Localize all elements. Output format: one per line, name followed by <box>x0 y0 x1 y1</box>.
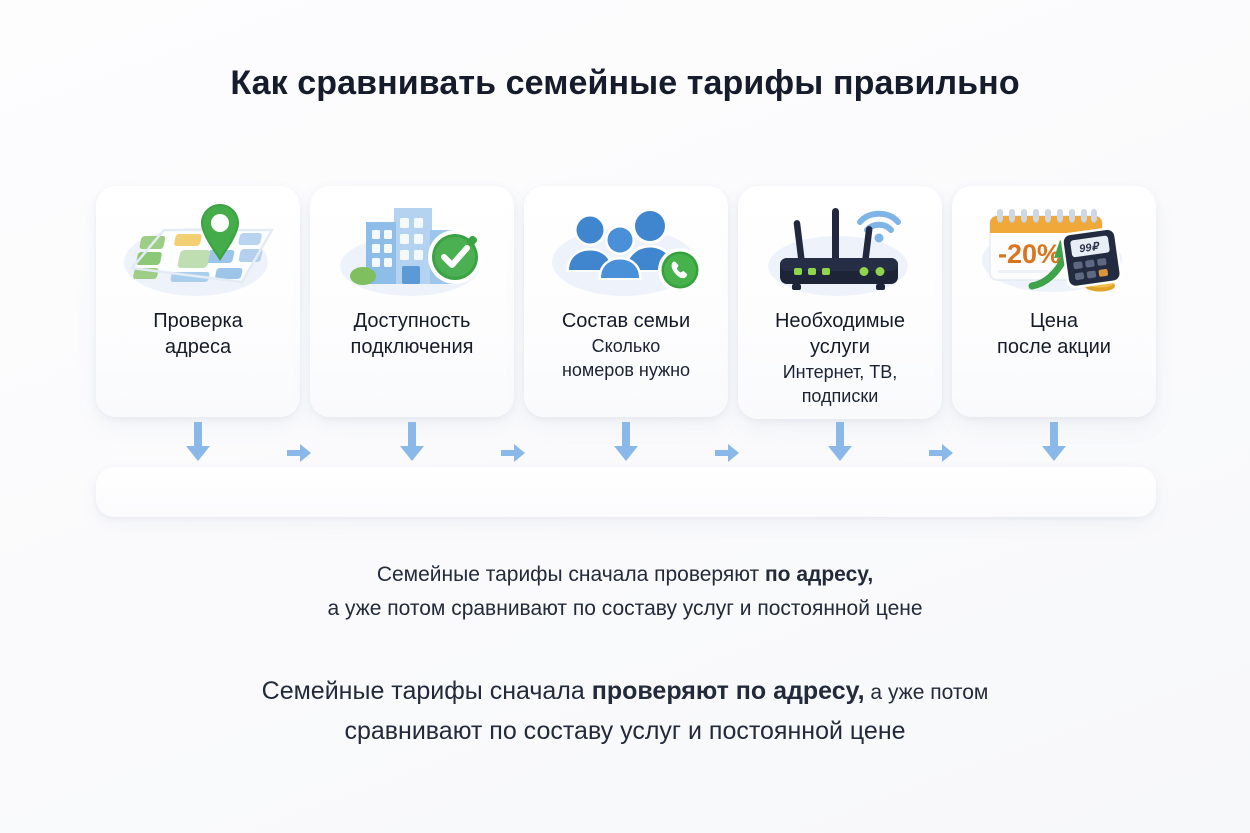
caption-secondary-part-small: а уже потом <box>865 681 989 704</box>
calendar-discount-calculator-icon: -20% <box>974 200 1134 304</box>
caption-primary-line-1-normal: Семейные тарифы сначала проверяют <box>377 563 765 586</box>
summary-bar <box>96 467 1156 517</box>
step-card-text: Необходимые услуги Интернет, ТВ, подписк… <box>742 308 938 408</box>
step-subtitle: Интернет, ТВ, подписки <box>746 360 934 408</box>
building-check-icon <box>332 200 492 304</box>
step-title: Состав семьи <box>532 308 720 334</box>
caption-secondary-part-normal: Семейные тарифы сначала <box>262 677 592 705</box>
step-card-price-after-promo[interactable]: -20% <box>952 186 1156 417</box>
caption-primary-line-1: Семейные тарифы сначала проверяют по адр… <box>0 558 1250 592</box>
step-card-text: Состав семьи Сколько номеров нужно <box>528 308 724 382</box>
arrow-down-icon-4 <box>826 422 854 462</box>
step-card-text: Доступность подключения <box>314 308 510 360</box>
step-card-family-composition[interactable]: Состав семьи Сколько номеров нужно <box>524 186 728 417</box>
step-card-address-check[interactable]: Проверка адреса <box>96 186 300 417</box>
caption-primary-line-2: а уже потом сравнивают по составу услуг … <box>0 592 1250 626</box>
caption-primary: Семейные тарифы сначала проверяют по адр… <box>0 558 1250 626</box>
page-title: Как сравнивать семейные тарифы правильно <box>0 64 1250 103</box>
arrow-down-icon-3 <box>612 422 640 462</box>
infographic-page: Как сравнивать семейные тарифы правильно <box>0 0 1250 833</box>
caption-secondary-line-2: сравнивают по составу услуг и постоянной… <box>215 712 1035 750</box>
discount-badge-text: -20% <box>998 239 1061 269</box>
step-card-text: Цена после акции <box>956 308 1152 360</box>
family-phone-icon <box>546 200 706 304</box>
page-title-part-light: Как сравнивать <box>230 64 505 102</box>
caption-secondary-part-strong: проверяют по адресу, <box>592 677 865 705</box>
step-title: Цена после акции <box>960 308 1148 360</box>
page-title-part-strong: семейные тарифы правильно <box>506 64 1020 102</box>
step-card-required-services[interactable]: Необходимые услуги Интернет, ТВ, подписк… <box>738 186 942 419</box>
arrow-right-icon-4 <box>928 441 954 465</box>
arrow-right-icon-1 <box>286 441 312 465</box>
step-card-connection-availability[interactable]: Доступность подключения <box>310 186 514 417</box>
arrow-down-icon-2 <box>398 422 426 462</box>
step-card-text: Проверка адреса <box>100 308 296 360</box>
caption-primary-line-1-strong: по адресу, <box>765 563 873 586</box>
steps-row: Проверка адреса <box>96 186 1156 421</box>
arrow-right-icon-3 <box>714 441 740 465</box>
arrow-down-icon-1 <box>184 422 212 462</box>
map-pin-icon <box>118 200 278 304</box>
step-title: Доступность подключения <box>318 308 506 360</box>
step-subtitle: Сколько номеров нужно <box>532 334 720 382</box>
caption-secondary-line-1: Семейные тарифы сначала проверяют по адр… <box>215 672 1035 712</box>
caption-secondary: Семейные тарифы сначала проверяют по адр… <box>215 672 1035 750</box>
step-title: Проверка адреса <box>104 308 292 360</box>
arrow-right-icon-2 <box>500 441 526 465</box>
step-title: Необходимые услуги <box>746 308 934 360</box>
router-wifi-icon <box>760 200 920 304</box>
arrow-down-icon-5 <box>1040 422 1068 462</box>
